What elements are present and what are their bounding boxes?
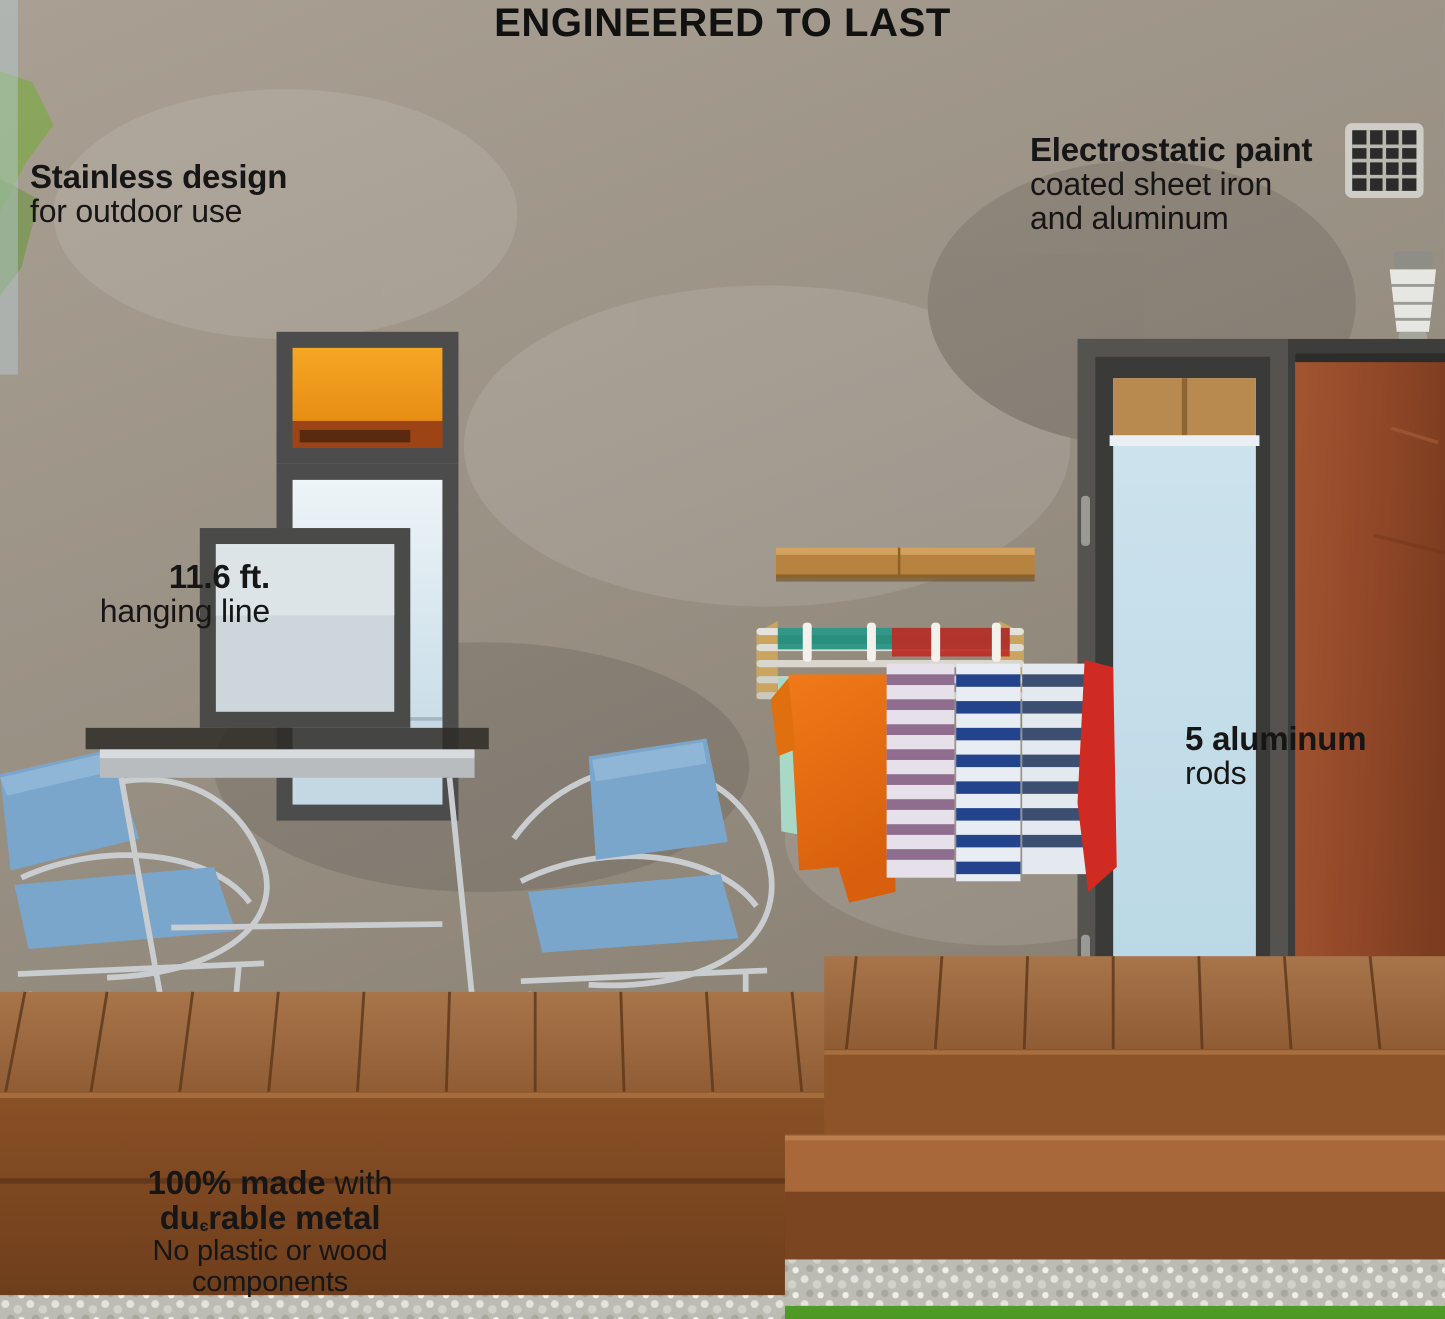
upper-window xyxy=(277,332,459,464)
callout-lead-regular: with xyxy=(326,1164,393,1201)
wall-light-fixture xyxy=(1390,252,1436,343)
page-title: ENGINEERED TO LAST xyxy=(0,0,1445,46)
laundry-towel-blue xyxy=(956,664,1020,882)
callout-lead-bold-3: rable metal xyxy=(208,1199,380,1236)
callout-sub: for outdoor use xyxy=(30,195,460,229)
callout-stainless-design: Stainless design for outdoor use xyxy=(30,160,460,229)
gravel-strip-right xyxy=(785,1259,1445,1313)
callout-sub: No plastic or wood xyxy=(60,1236,480,1267)
callout-sub-2: and aluminum xyxy=(1030,202,1445,236)
callout-lead: Electrostatic paint xyxy=(1030,133,1445,168)
callout-aluminum-rods: 5 aluminum rods xyxy=(1185,722,1445,791)
callout-electrostatic-paint: Electrostatic paint coated sheet iron an… xyxy=(1030,133,1445,236)
wall-shelf xyxy=(776,548,1035,582)
laundry-towel-purple xyxy=(887,664,955,878)
callout-sub-2: components xyxy=(60,1267,480,1298)
callout-mark-glyph: є xyxy=(200,1218,209,1235)
callout-lead: 11.6 ft. xyxy=(0,560,270,595)
callout-durable-metal: 100% made with duєrable metal No plastic… xyxy=(60,1166,480,1297)
callout-sub: hanging line xyxy=(0,595,270,629)
callout-lead-bold: 100% made xyxy=(148,1164,326,1201)
callout-lead-bold-2: du xyxy=(160,1199,200,1236)
callout-sub: rods xyxy=(1185,757,1445,791)
deck-right xyxy=(785,956,1445,1266)
laundry-orange-shirt xyxy=(788,674,895,902)
callout-sub: coated sheet iron xyxy=(1030,168,1445,202)
infographic-page: ENGINEERED TO LAST xyxy=(0,0,1445,1319)
callout-lead-line-2: duєrable metal xyxy=(60,1201,480,1236)
callout-lead: 5 aluminum xyxy=(1185,722,1445,757)
lawn-right xyxy=(785,1306,1445,1319)
callout-lead-line-1: 100% made with xyxy=(60,1166,480,1201)
laundry-towel-navy xyxy=(1022,664,1086,875)
gravel-strip-left xyxy=(0,1295,838,1319)
callout-lead: Stainless design xyxy=(30,160,460,195)
callout-hanging-line: 11.6 ft. hanging line xyxy=(0,560,270,629)
